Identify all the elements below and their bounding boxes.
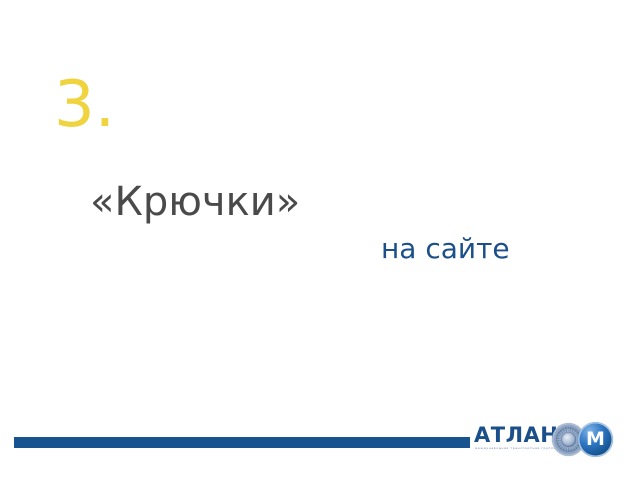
atlant-logo: АТЛАНТ международная транспортная группа… (474, 419, 634, 471)
logo-tagline: международная транспортная группа (475, 447, 555, 450)
medallion-emblem (561, 432, 576, 447)
slide-subtitle: на сайте (381, 234, 510, 265)
footer-divider-bar (14, 437, 470, 448)
step-number: 3. (54, 73, 115, 137)
page-title: «Крючки» (90, 180, 300, 224)
presentation-slide: 3. «Крючки» на сайте АТЛАНТ международна… (0, 0, 640, 480)
sphere-letter: M (578, 422, 613, 457)
sphere-icon: M (578, 422, 613, 457)
